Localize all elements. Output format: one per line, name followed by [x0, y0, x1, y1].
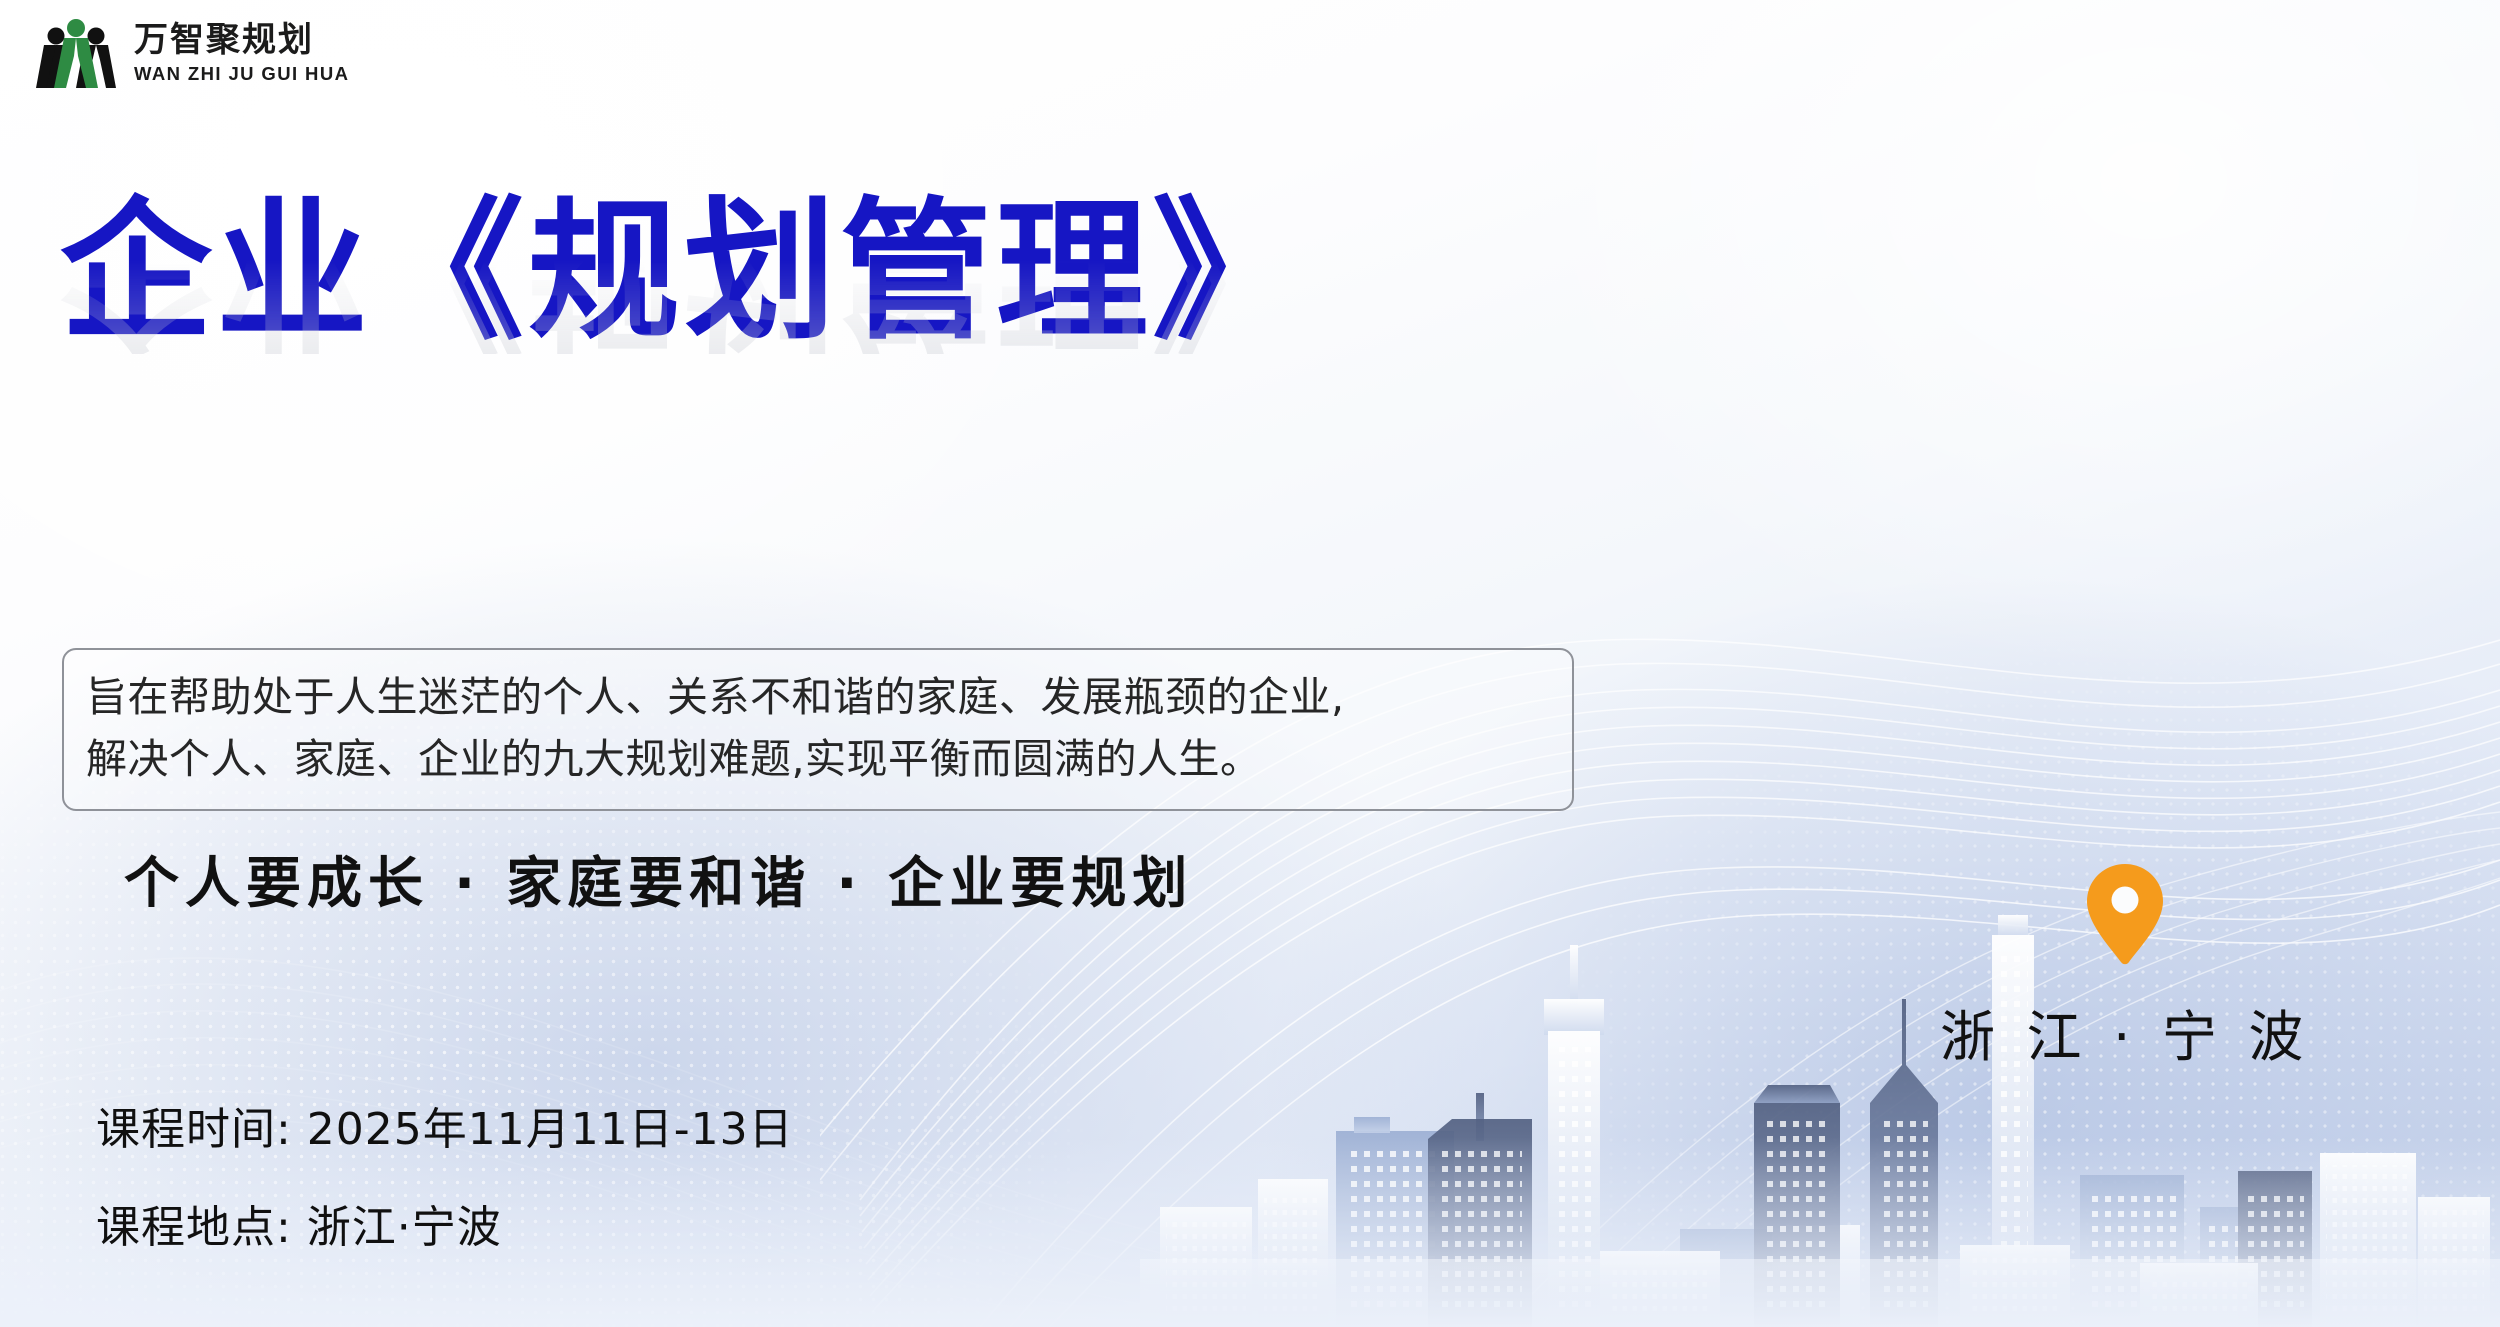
- brand-name-cn: 万智聚规划: [134, 21, 349, 60]
- course-place-row: 课程地点: 浙江·宁波: [96, 1191, 794, 1255]
- course-info-block: 课程时间: 2025年11月11日-13日 课程地点: 浙江·宁波: [96, 1093, 794, 1255]
- hero-title-block: 企业《规划管理》 企业《规划管理》: [60, 196, 1308, 506]
- glow-top-right: [1500, 0, 2500, 680]
- description-line-2: 解决个人、家庭、企业的九大规划难题,实现平衡而圆满的人生。: [86, 728, 1550, 790]
- page-title-reflection: 企业《规划管理》: [60, 202, 1308, 354]
- location-name: 浙 江 · 宁 波: [1940, 992, 2310, 1072]
- map-pin-icon: [2083, 862, 2167, 966]
- slogan-text: 个人要成长 · 家庭要和谐 · 企业要规划: [124, 838, 1193, 918]
- description-box: 旨在帮助处于人生迷茫的个人、关系不和谐的家庭、发展瓶颈的企业, 解决个人、家庭、…: [62, 648, 1574, 811]
- brand-logo: 万智聚规划 WAN ZHI JU GUI HUA: [34, 14, 349, 92]
- three-people-logo-icon: [34, 14, 118, 92]
- poster-canvas: 万智聚规划 WAN ZHI JU GUI HUA 企业《规划管理》 企业《规划管…: [0, 0, 2500, 1327]
- description-line-1: 旨在帮助处于人生迷茫的个人、关系不和谐的家庭、发展瓶颈的企业,: [86, 666, 1550, 728]
- course-time-row: 课程时间: 2025年11月11日-13日: [96, 1093, 794, 1157]
- brand-text: 万智聚规划 WAN ZHI JU GUI HUA: [134, 21, 349, 85]
- brand-name-en: WAN ZHI JU GUI HUA: [134, 63, 349, 85]
- location-block: 浙 江 · 宁 波: [1940, 862, 2310, 1072]
